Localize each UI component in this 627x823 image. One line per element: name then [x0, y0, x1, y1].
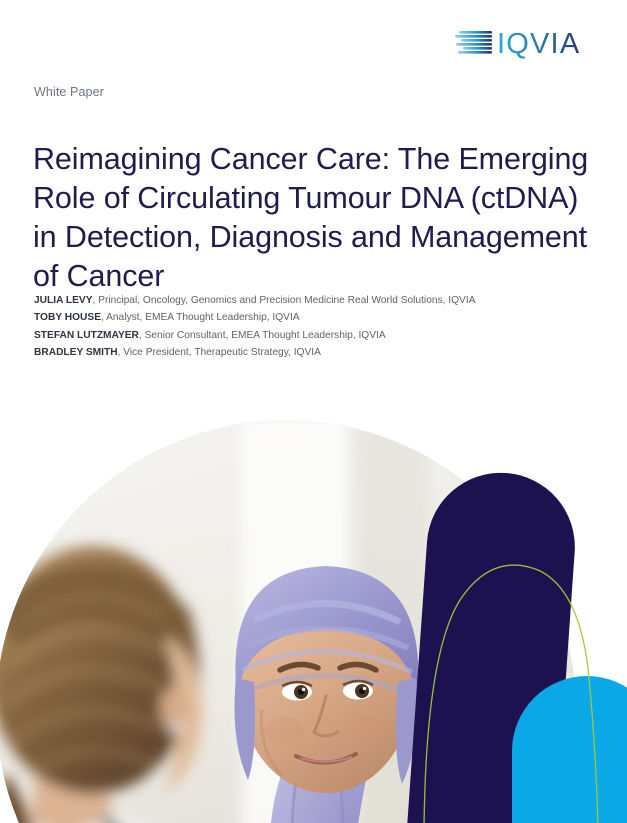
author-name: STEFAN LUTZMAYER [34, 330, 139, 341]
page-title: Reimagining Cancer Care: The Emerging Ro… [33, 140, 603, 296]
author-name: JULIA LEVY [34, 295, 93, 306]
author-entry: TOBY HOUSE, Analyst, EMEA Thought Leader… [34, 309, 594, 326]
author-entry: JULIA LEVY, Principal, Oncology, Genomic… [34, 292, 594, 309]
author-role: , Analyst, EMEA Thought Leadership, IQVI… [101, 312, 300, 323]
document-type-label: White Paper [34, 85, 104, 99]
author-role: , Vice President, Therapeutic Strategy, … [118, 347, 321, 358]
author-role: , Principal, Oncology, Genomics and Prec… [93, 295, 476, 306]
author-entry: BRADLEY SMITH, Vice President, Therapeut… [34, 344, 594, 361]
iqvia-bars-icon [455, 31, 492, 54]
white-paper-cover: IQVIA White Paper Reimagining Cancer Car… [0, 0, 627, 823]
author-entry: STEFAN LUTZMAYER, Senior Consultant, EME… [34, 327, 594, 344]
author-list: JULIA LEVY, Principal, Oncology, Genomic… [34, 292, 594, 361]
iqvia-logo: IQVIA [455, 22, 603, 62]
author-role: , Senior Consultant, EMEA Thought Leader… [139, 330, 386, 341]
author-name: TOBY HOUSE [34, 312, 101, 323]
author-name: BRADLEY SMITH [34, 347, 118, 358]
iqvia-logo-svg: IQVIA [455, 25, 603, 59]
iqvia-wordmark: IQVIA [497, 28, 580, 59]
cover-artwork [0, 408, 627, 823]
